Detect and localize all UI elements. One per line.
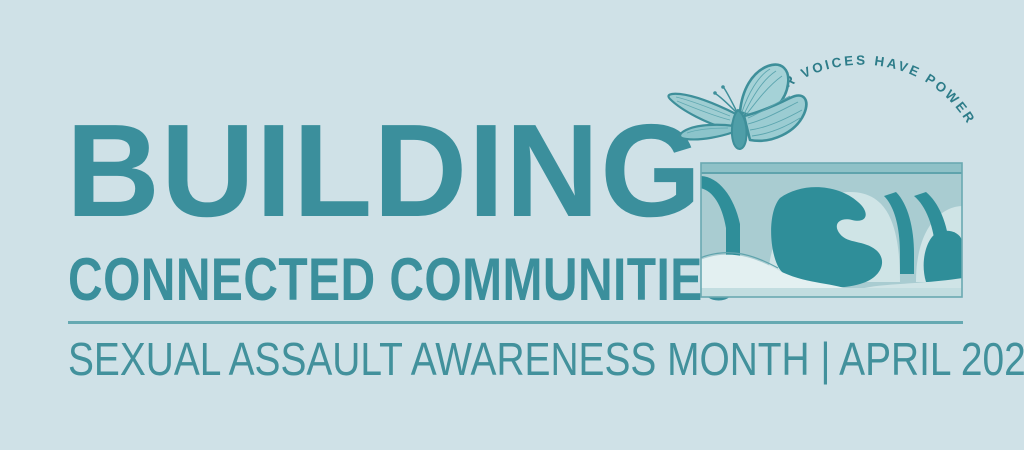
bridge-deck-line — [700, 172, 963, 174]
divider-rule — [68, 321, 963, 324]
saam-2024-poster: BUILDING CONNECTED COMMUNITIES SEXUAL AS… — [0, 0, 1024, 450]
butterfly-left-wing — [668, 94, 736, 140]
butterfly-right-wing — [740, 65, 806, 141]
campaign-tagline: SEXUAL ASSAULT AWARENESS MONTH | APRIL 2… — [68, 334, 1024, 384]
headline-block: BUILDING CONNECTED COMMUNITIES — [66, 112, 766, 230]
headline-subtitle: CONNECTED COMMUNITIES — [68, 250, 735, 310]
bridge-illustration — [700, 162, 963, 298]
page-title: BUILDING — [66, 112, 756, 230]
butterfly-icon — [664, 54, 824, 162]
